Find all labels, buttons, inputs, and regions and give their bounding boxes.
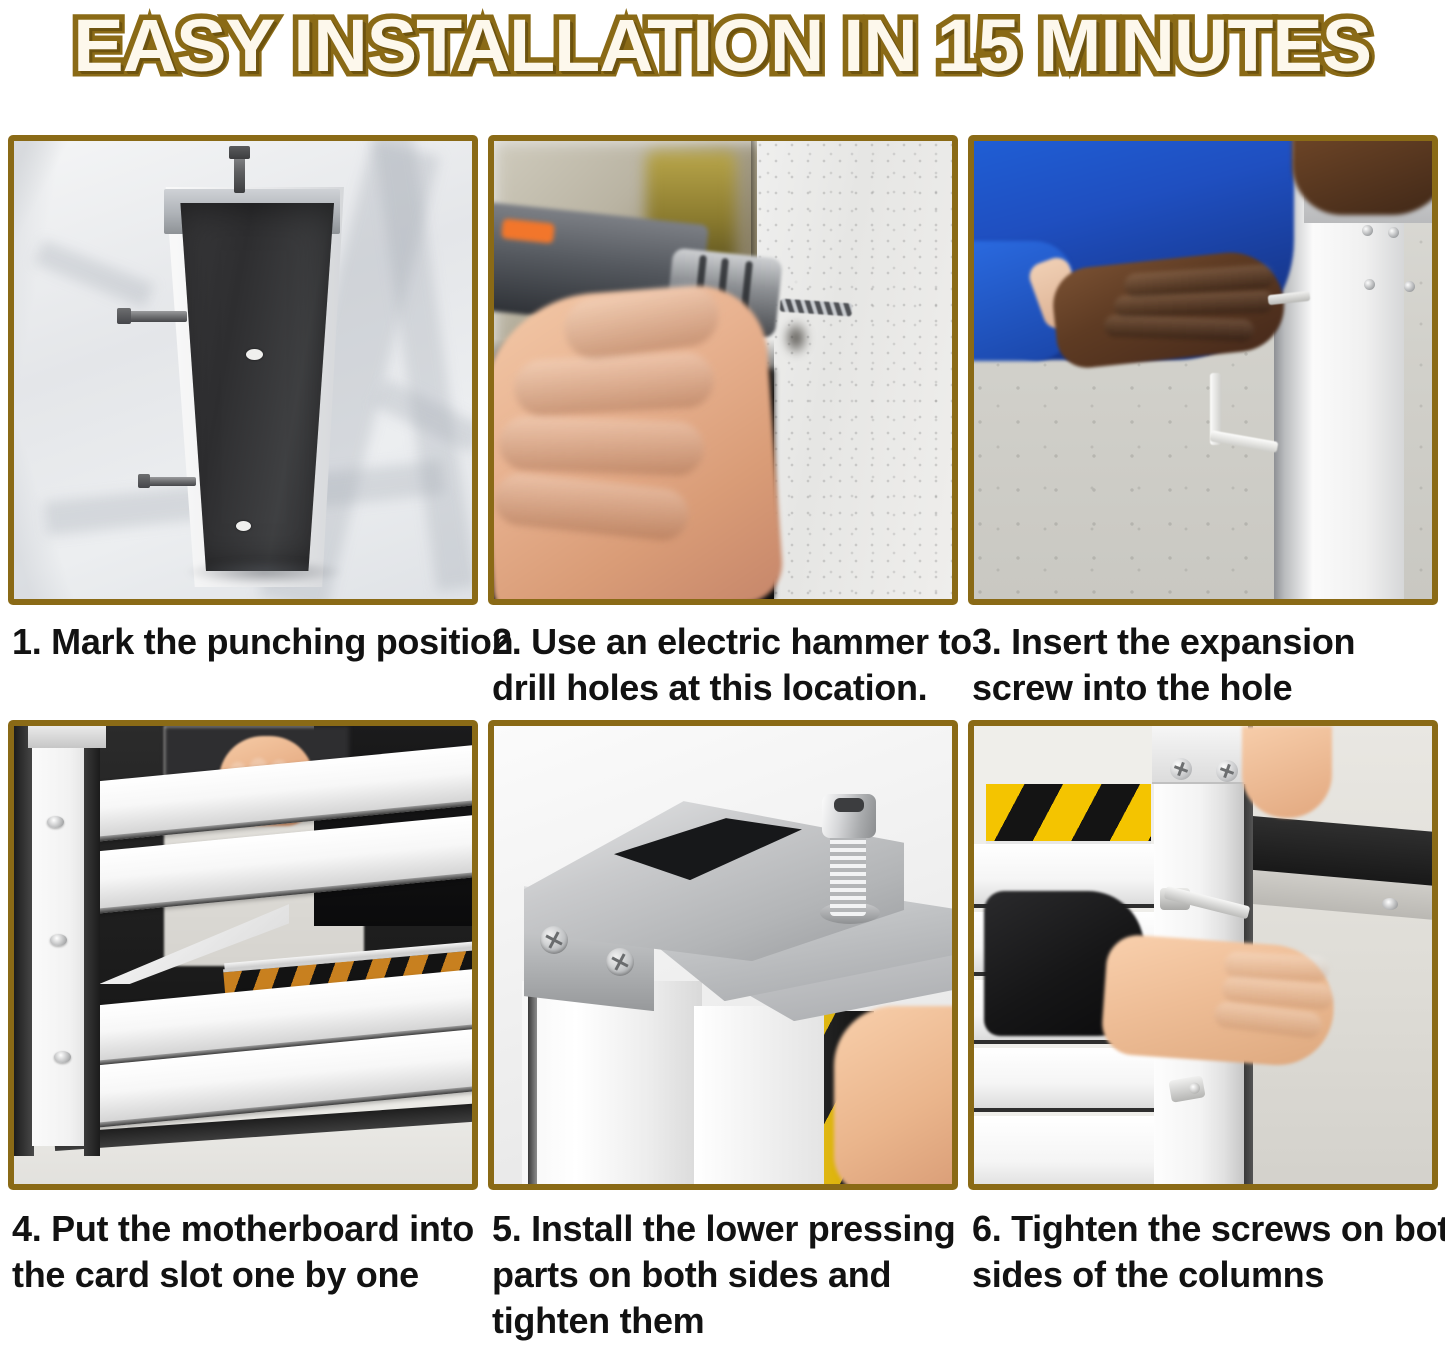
supporting-hand (1242, 726, 1332, 818)
caption-line: 3. Insert the expansion (972, 619, 1432, 665)
insert-motherboard-photo (8, 720, 478, 1190)
step-caption-3: 3. Insert the expansion screw into the h… (968, 605, 1438, 711)
page-title: EASY INSTALLATION IN 15 MINUTES (74, 9, 1372, 83)
step-card-1: 1. Mark the punching position (8, 135, 478, 711)
side-bolt-lower-head (138, 474, 150, 488)
hazard-stripe-band (986, 784, 1151, 846)
step-caption-2: 2. Use an electric hammer to drill holes… (488, 605, 958, 711)
caption-line: parts on both sides and (492, 1252, 952, 1298)
step-card-3: 3. Insert the expansion screw into the h… (968, 135, 1438, 711)
step-caption-5: 5. Install the lower pressing parts on b… (488, 1190, 958, 1344)
white-column-post (522, 981, 702, 1184)
installation-guide-page: EASY INSTALLATION IN 15 MINUTES (0, 0, 1445, 1352)
step-card-2: 2. Use an electric hammer to drill holes… (488, 135, 958, 711)
column-right-shadow (84, 726, 100, 1156)
step-card-5: 5. Install the lower pressing parts on b… (488, 711, 958, 1344)
step-caption-6: 6. Tighten the screws on both sides of t… (968, 1190, 1438, 1298)
white-textured-wall (757, 141, 952, 599)
drill-holes-photo (488, 135, 958, 605)
plate-drop-shadow (184, 559, 344, 585)
column-left-shadow (14, 726, 34, 1156)
caption-line: drill holes at this location. (492, 665, 952, 711)
finger (498, 415, 705, 476)
hex-bolt-socket (834, 798, 864, 812)
installer-hand (834, 1006, 952, 1184)
tighten-column-screws-photo (968, 720, 1438, 1190)
caption-line: tighten them (492, 1298, 952, 1344)
column-screw (1362, 225, 1373, 236)
step-card-4: 4. Put the motherboard into the card slo… (8, 711, 478, 1344)
steps-grid: 1. Mark the punching position (8, 135, 1438, 1344)
caption-line: 1. Mark the punching position (12, 619, 472, 665)
marking-hole-upper (246, 349, 263, 360)
white-barrier-board (694, 1006, 824, 1184)
install-lower-pressing-parts-photo (488, 720, 958, 1190)
caption-line: 4. Put the motherboard into (12, 1206, 472, 1252)
column-screw (1388, 227, 1399, 238)
top-bolt-head (229, 146, 250, 159)
column-screw (1216, 760, 1238, 782)
caption-line: screw into the hole (972, 665, 1432, 711)
column-screw (1170, 758, 1192, 780)
caption-line: sides of the columns (972, 1252, 1432, 1298)
phillips-screw (606, 948, 634, 976)
column-edge-shadow (528, 981, 537, 1184)
caption-line: 5. Install the lower pressing (492, 1206, 952, 1252)
page-title-bar: EASY INSTALLATION IN 15 MINUTES (0, 0, 1445, 92)
worker-upper-hand (1292, 141, 1432, 215)
caption-line: 2. Use an electric hammer to (492, 619, 952, 665)
barrier-board (974, 1116, 1164, 1184)
column-screw (1404, 281, 1415, 292)
barrier-board (974, 1048, 1164, 1112)
column-top-cap (28, 726, 106, 748)
mark-punching-position-photo (8, 135, 478, 605)
step-caption-4: 4. Put the motherboard into the card slo… (8, 1190, 478, 1298)
drilled-hole-dust (782, 319, 810, 357)
finger (513, 351, 716, 417)
side-bolt-upper-head (117, 308, 131, 324)
marking-hole-lower (236, 521, 251, 531)
column-screw (1364, 279, 1375, 290)
insert-expansion-screw-photo (968, 135, 1438, 605)
step-caption-1: 1. Mark the punching position (8, 605, 478, 665)
step-card-6: 6. Tighten the screws on both sides of t… (968, 711, 1438, 1344)
caption-line: the card slot one by one (12, 1252, 472, 1298)
phillips-screw (540, 926, 568, 954)
caption-line: 6. Tighten the screws on both (972, 1206, 1432, 1252)
